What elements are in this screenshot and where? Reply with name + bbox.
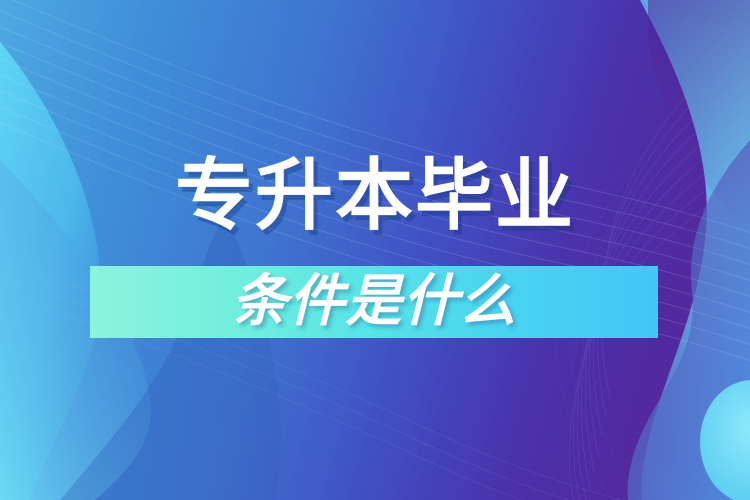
headline-text: 专升本毕业 [0, 148, 750, 244]
subtitle-text: 条件是什么 [90, 266, 658, 338]
promo-banner: 专升本毕业 条件是什么 [0, 0, 750, 500]
banner-content: 专升本毕业 条件是什么 [0, 0, 750, 500]
